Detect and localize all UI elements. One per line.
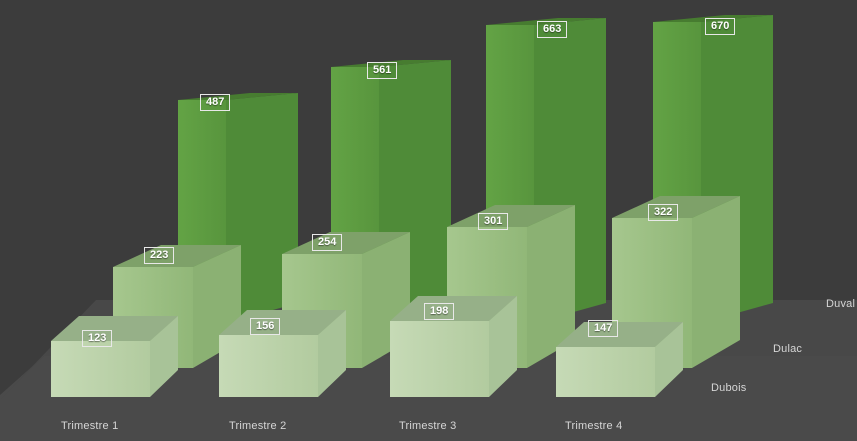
data-label-dulac-trimestre-2: 254 (312, 234, 342, 251)
series-label-dulac: Dulac (773, 343, 802, 355)
data-label-dubois-trimestre-1: 123 (82, 330, 112, 347)
data-label-duval-trimestre-4: 670 (705, 18, 735, 35)
bar-dubois-trimestre-2 (219, 310, 346, 397)
data-label-dubois-trimestre-2: 156 (250, 318, 280, 335)
series-label-dubois: Dubois (711, 382, 746, 394)
data-label-duval-trimestre-1: 487 (200, 94, 230, 111)
data-label-dubois-trimestre-3: 198 (424, 303, 454, 320)
bar-dubois-trimestre-1 (51, 316, 178, 397)
series-label-duval: Duval (826, 298, 855, 310)
chart-3d-column: 123 223 487 156 254 561 198 301 663 147 … (0, 0, 857, 441)
bar-dubois-trimestre-4 (556, 322, 683, 397)
category-label-trimestre-1: Trimestre 1 (61, 420, 118, 432)
data-label-dubois-trimestre-4: 147 (588, 320, 618, 337)
category-label-trimestre-3: Trimestre 3 (399, 420, 456, 432)
data-label-dulac-trimestre-1: 223 (144, 247, 174, 264)
data-label-dulac-trimestre-4: 322 (648, 204, 678, 221)
chart-canvas (0, 0, 857, 441)
category-label-trimestre-4: Trimestre 4 (565, 420, 622, 432)
data-label-dulac-trimestre-3: 301 (478, 213, 508, 230)
data-label-duval-trimestre-2: 561 (367, 62, 397, 79)
data-label-duval-trimestre-3: 663 (537, 21, 567, 38)
category-label-trimestre-2: Trimestre 2 (229, 420, 286, 432)
